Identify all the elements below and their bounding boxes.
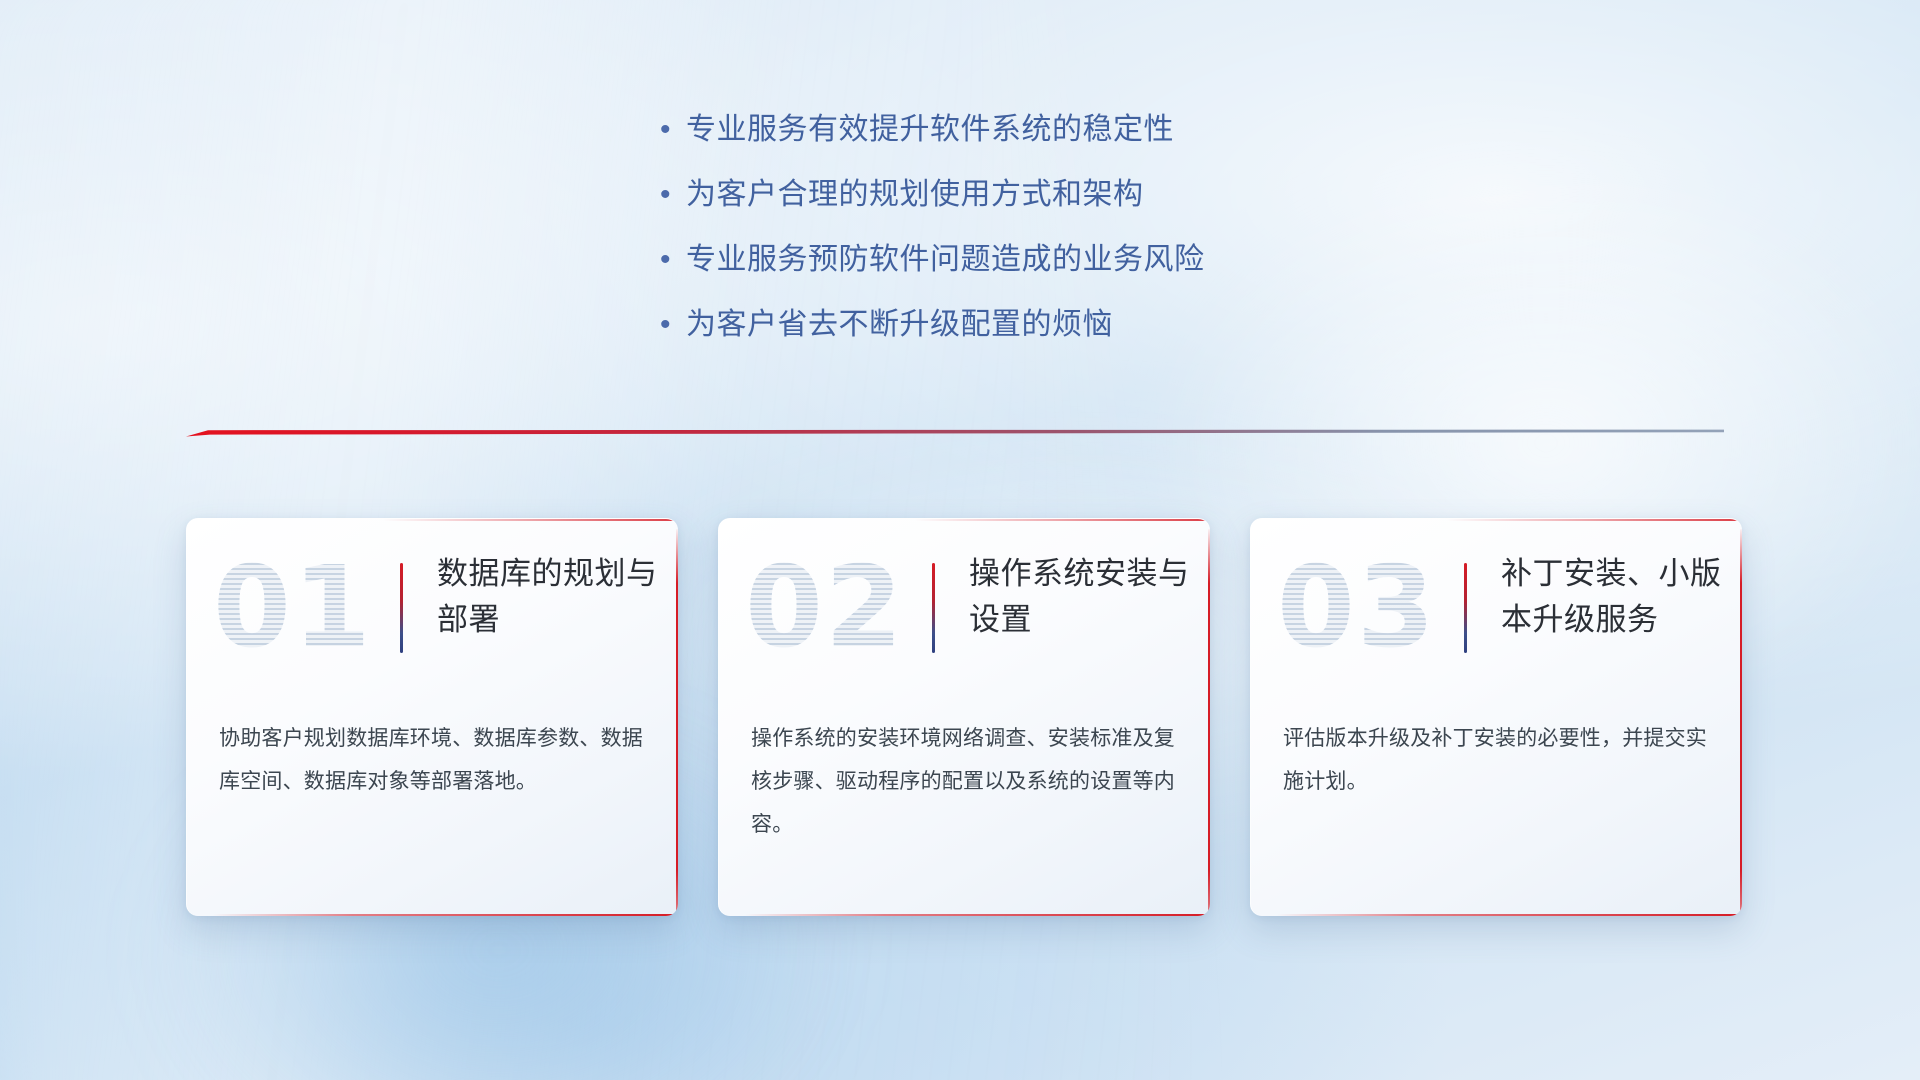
bullet-text: 专业服务预防软件问题造成的业务风险	[686, 238, 1205, 282]
card-title-rule	[932, 563, 935, 653]
bullet-marker-icon: •	[660, 238, 686, 282]
card-number-watermark: 01	[213, 533, 373, 683]
card-body-text: 协助客户规划数据库环境、数据库参数、数据库空间、数据库对象等部署落地。	[219, 717, 652, 803]
card-title: 操作系统安装与设置	[969, 551, 1192, 643]
service-card-02[interactable]: 02 操作系统安装与设置 操作系统的安装环境网络调查、安装标准及复核步骤、驱动程…	[718, 518, 1210, 916]
card-title: 数据库的规划与部署	[437, 551, 660, 643]
bullet-marker-icon: •	[660, 303, 686, 347]
service-card-03[interactable]: 03 补丁安装、小版本升级服务 评估版本升级及补丁安装的必要性，并提交实施计划。	[1250, 518, 1742, 916]
section-divider	[186, 427, 1724, 439]
card-bottom-accent	[745, 914, 1210, 916]
bullet-text: 专业服务有效提升软件系统的稳定性	[686, 108, 1174, 152]
benefits-bullet-list: • 专业服务有效提升软件系统的稳定性 • 为客户合理的规划使用方式和架构 • 专…	[660, 108, 1420, 368]
service-card-01[interactable]: 01 数据库的规划与部署 协助客户规划数据库环境、数据库参数、数据库空间、数据库…	[186, 518, 678, 916]
divider-shape-icon	[186, 427, 1724, 439]
bullet-text: 为客户省去不断升级配置的烦恼	[686, 303, 1113, 347]
bullet-marker-icon: •	[660, 108, 686, 152]
card-header: 02 操作系统安装与设置	[719, 519, 1210, 701]
list-item: • 为客户合理的规划使用方式和架构	[660, 173, 1420, 238]
card-body-text: 评估版本升级及补丁安装的必要性，并提交实施计划。	[1283, 717, 1716, 803]
card-bottom-accent	[213, 914, 678, 916]
card-title-rule	[400, 563, 403, 653]
list-item: • 专业服务预防软件问题造成的业务风险	[660, 238, 1420, 303]
card-number-watermark: 02	[745, 533, 905, 683]
service-card-deck: 01 数据库的规划与部署 协助客户规划数据库环境、数据库参数、数据库空间、数据库…	[186, 518, 1742, 918]
list-item: • 为客户省去不断升级配置的烦恼	[660, 303, 1420, 368]
card-title-rule	[1464, 563, 1467, 653]
card-header: 01 数据库的规划与部署	[187, 519, 678, 701]
slide-stage: • 专业服务有效提升软件系统的稳定性 • 为客户合理的规划使用方式和架构 • 专…	[0, 0, 1920, 1080]
card-body-text: 操作系统的安装环境网络调查、安装标准及复核步骤、驱动程序的配置以及系统的设置等内…	[751, 717, 1184, 846]
list-item: • 专业服务有效提升软件系统的稳定性	[660, 108, 1420, 173]
card-bottom-accent	[1277, 914, 1742, 916]
bullet-marker-icon: •	[660, 173, 686, 217]
card-header: 03 补丁安装、小版本升级服务	[1251, 519, 1742, 701]
bullet-text: 为客户合理的规划使用方式和架构	[686, 173, 1144, 217]
card-number-watermark: 03	[1277, 533, 1437, 683]
card-title: 补丁安装、小版本升级服务	[1501, 551, 1724, 643]
